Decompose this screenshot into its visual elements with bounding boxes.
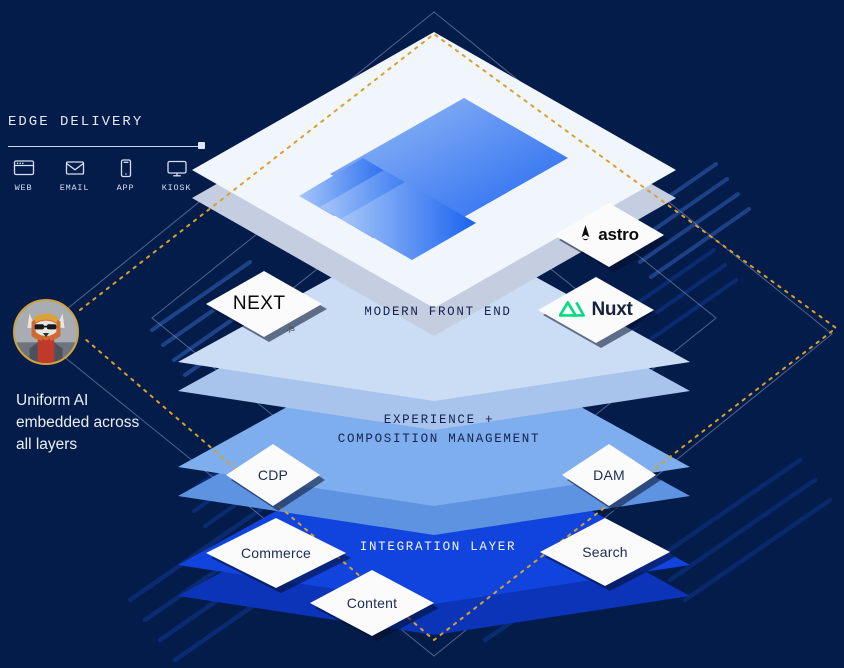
astro-logo-icon (579, 225, 592, 245)
nextjs-suffix: .js (287, 324, 296, 333)
mobile-phone-icon (115, 158, 137, 178)
ai-callout-text: Uniform AI embedded across all layers (16, 390, 146, 456)
nextjs-logo-icon: NEXT (233, 293, 286, 315)
channel-web[interactable]: WEB (6, 158, 41, 193)
fox-avatar-icon[interactable] (13, 299, 79, 365)
chip-label: Content (310, 570, 434, 636)
nuxt-wordmark: Nuxt (591, 299, 632, 321)
edge-delivery-leader-line (8, 146, 200, 147)
chip-dam[interactable]: DAM (562, 444, 656, 506)
astro-wordmark: astro (598, 225, 639, 245)
channel-kiosk-caption: KIOSK (162, 183, 192, 193)
edge-delivery-label: EDGE DELIVERY (8, 114, 143, 130)
chip-nuxt[interactable]: Nuxt (538, 277, 654, 343)
diagram-canvas (0, 0, 844, 668)
chip-search[interactable]: Search (540, 518, 670, 586)
channel-kiosk[interactable]: KIOSK (159, 158, 194, 193)
chip-label: Search (540, 518, 670, 586)
layer-caption-experience: EXPERIENCE + COMPOSITION MANAGEMENT (280, 411, 598, 450)
channel-web-caption: WEB (15, 183, 33, 193)
chip-content[interactable]: Content (310, 570, 434, 636)
channel-app[interactable]: APP (108, 158, 143, 193)
browser-window-icon (13, 158, 35, 178)
architecture-diagram: EDGE DELIVERY WEB EM (0, 0, 844, 668)
chip-label: CDP (226, 444, 320, 506)
channel-app-caption: APP (117, 183, 135, 193)
chip-astro[interactable]: astro (554, 203, 664, 267)
chip-cdp[interactable]: CDP (226, 444, 320, 506)
edge-channel-list: WEB EMAIL APP (6, 158, 194, 193)
channel-email-caption: EMAIL (60, 183, 90, 193)
chip-label-wrap: astro (554, 203, 664, 267)
chip-label: DAM (562, 444, 656, 506)
nuxt-logo-icon (559, 300, 585, 320)
envelope-icon (64, 158, 86, 178)
chip-nextjs[interactable]: NEXT .js (206, 271, 322, 337)
chip-label-wrap: Nuxt (538, 277, 654, 343)
channel-email[interactable]: EMAIL (57, 158, 92, 193)
edge-delivery-leader-node (198, 142, 205, 149)
chip-label-wrap: NEXT .js (206, 271, 322, 337)
monitor-icon (166, 158, 188, 178)
